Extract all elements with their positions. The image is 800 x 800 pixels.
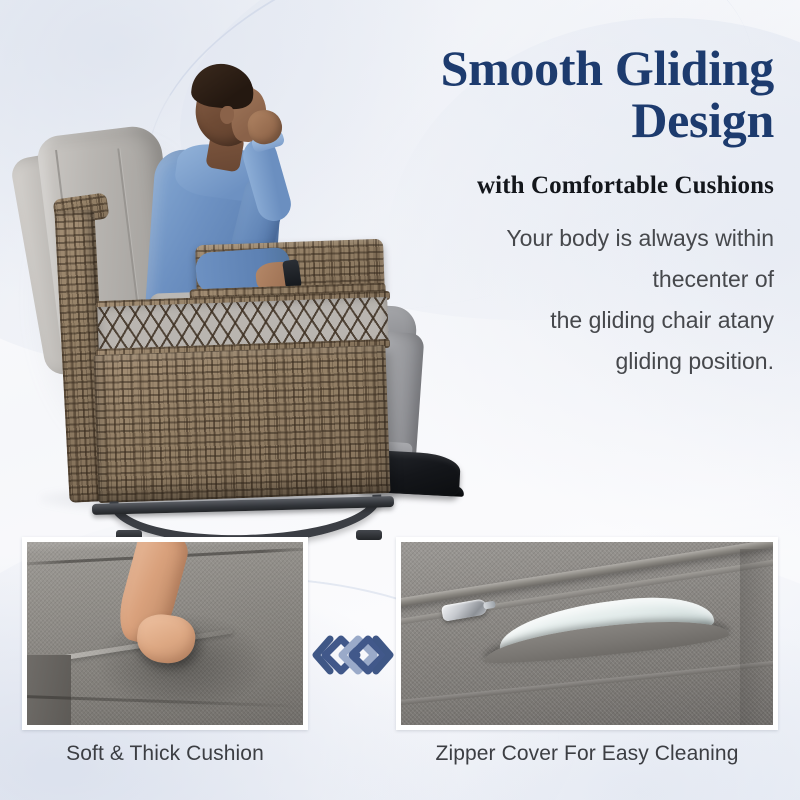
feature-caption-cushion: Soft & Thick Cushion <box>22 742 308 766</box>
glider-foot-right <box>356 530 382 540</box>
cushion-left-edge <box>27 655 71 725</box>
page-title: Smooth Gliding Design <box>334 42 774 146</box>
headline-line-2: Design <box>334 94 774 146</box>
paragraph-line-2: thecenter of <box>334 259 774 300</box>
cover-right-shadow <box>740 549 773 725</box>
zipper-cover-photo <box>401 542 773 725</box>
page-subtitle: with Comfortable Cushions <box>334 172 774 200</box>
feature-panel-zipper <box>396 537 778 730</box>
description-paragraph: Your body is always within thecenter of … <box>334 218 774 382</box>
diamond-chevron-divider-icon <box>310 632 394 678</box>
paragraph-line-3: the gliding chair atany <box>334 300 774 341</box>
paragraph-line-1: Your body is always within <box>334 218 774 259</box>
headline-line-1: Smooth Gliding <box>334 42 774 94</box>
chevron-diamond-svg <box>310 632 394 678</box>
paragraph-line-4: gliding position. <box>334 341 774 382</box>
product-feature-page: Smooth Gliding Design with Comfortable C… <box>0 0 800 800</box>
feature-caption-zipper: Zipper Cover For Easy Cleaning <box>396 742 778 766</box>
feature-panel-cushion <box>22 537 308 730</box>
headline-text-block: Smooth Gliding Design with Comfortable C… <box>334 42 774 382</box>
cushion-press-photo <box>27 542 303 725</box>
